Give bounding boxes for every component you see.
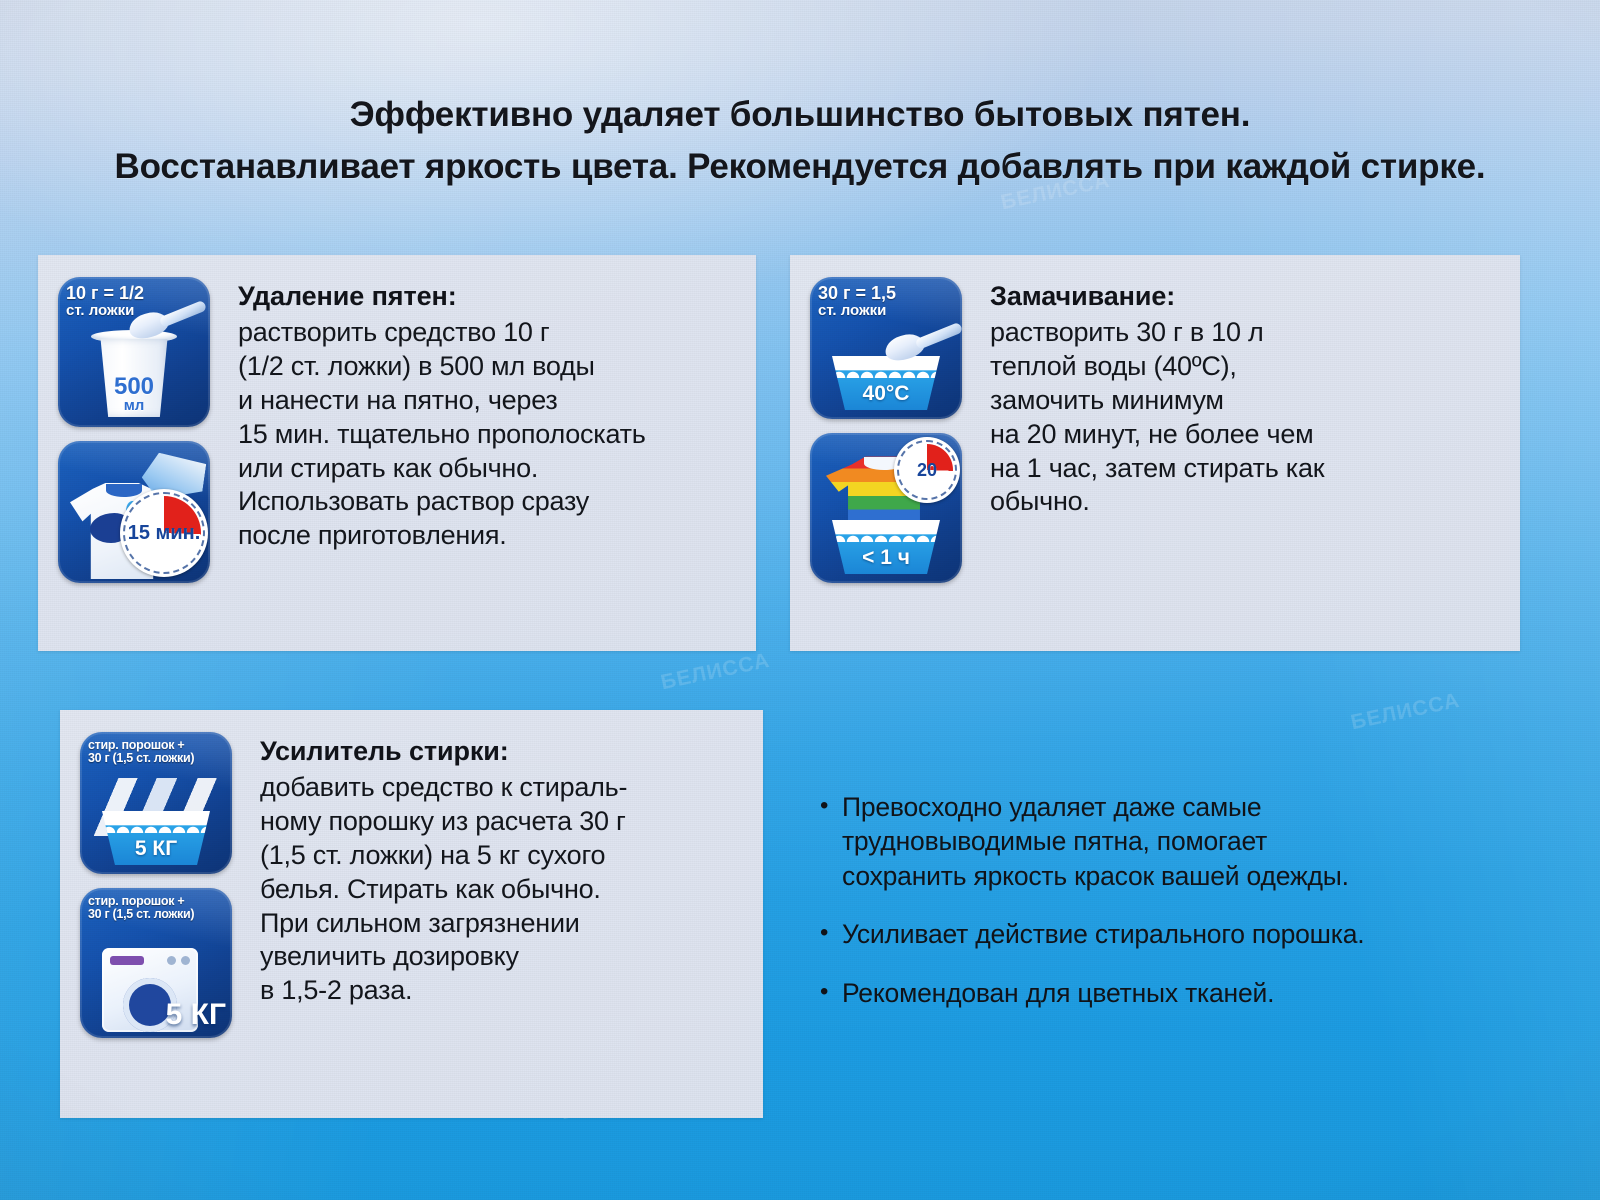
panel-title: Замачивание: xyxy=(990,281,1506,312)
rainbow-shirt-basin-icon: 20 < 1 ч xyxy=(810,433,962,583)
cup-volume-label: 500 мл xyxy=(58,376,210,413)
body-line: ному порошку из расчета 30 г xyxy=(260,805,749,839)
dose-basin-caption-line2: ст. ложки xyxy=(818,303,956,319)
bullet-text: Усиливает действие стирального порошка. xyxy=(842,917,1520,951)
timer-icon: 15 мин. xyxy=(120,489,208,577)
text-column: Замачивание: растворить 30 г в 10 л тепл… xyxy=(982,255,1520,651)
icon-column: стир. порошок + 30 г (1,5 ст. ложки) 5 К… xyxy=(60,710,252,1118)
body-line: после приготовления. xyxy=(238,519,742,553)
bullet-line: Превосходно удаляет даже самые xyxy=(842,790,1520,824)
panel-wash-booster: стир. порошок + 30 г (1,5 ст. ложки) 5 К… xyxy=(60,710,763,1118)
body-line: обычно. xyxy=(990,485,1506,519)
cup-volume-unit: мл xyxy=(58,399,210,413)
dose-cup-icon: 10 г = 1/2 ст. ложки 500 мл xyxy=(58,277,210,427)
dose-basin-caption-line1: 30 г = 1,5 xyxy=(818,284,956,303)
body-line: белья. Стирать как обычно. xyxy=(260,873,749,907)
body-line: При сильном загрязнении xyxy=(260,907,749,941)
washing-machine-5kg-icon: стир. порошок + 30 г (1,5 ст. ложки) 5 К… xyxy=(80,888,232,1038)
body-line: на 20 минут, не более чем xyxy=(990,418,1506,452)
bullet-text: Рекомендован для цветных тканей. xyxy=(842,976,1520,1010)
machine-caption-line2: 30 г (1,5 ст. ложки) xyxy=(88,908,226,921)
powder-caption-line2: 30 г (1,5 ст. ложки) xyxy=(88,752,226,765)
basin-icon: < 1 ч xyxy=(832,520,940,574)
body-line: добавить средство к стираль- xyxy=(260,771,749,805)
body-line: увеличить дозировку xyxy=(260,940,749,974)
body-line: растворить 30 г в 10 л xyxy=(990,316,1506,350)
list-item: • Превосходно удаляет даже самые труднов… xyxy=(820,790,1520,893)
body-line: растворить средство 10 г xyxy=(238,316,742,350)
body-line: 15 мин. тщательно прополоскать xyxy=(238,418,742,452)
body-line: замочить минимум xyxy=(990,384,1506,418)
basin-temperature-label: 40°C xyxy=(832,382,940,406)
panel-body: растворить 30 г в 10 л теплой воды (40ºC… xyxy=(990,316,1506,519)
basin-weight-label: 5 КГ xyxy=(102,837,210,861)
bullet-line: трудновыводимые пятна, помогает xyxy=(842,824,1520,858)
panel-title: Усилитель стирки: xyxy=(260,736,749,767)
panel-stain-removal: 10 г = 1/2 ст. ложки 500 мл xyxy=(38,255,756,651)
icon-column: 10 г = 1/2 ст. ложки 500 мл xyxy=(38,255,230,651)
text-column: Усилитель стирки: добавить средство к ст… xyxy=(252,710,763,1118)
basin-duration-label: < 1 ч xyxy=(832,546,940,570)
body-line: Использовать раствор сразу xyxy=(238,485,742,519)
bullet-line: Рекомендован для цветных тканей. xyxy=(842,976,1520,1010)
bullet-text: Превосходно удаляет даже самые трудновыв… xyxy=(842,790,1520,893)
bullet-marker: • xyxy=(820,790,842,893)
basin-icon: 40°C xyxy=(832,356,940,410)
machine-caption: стир. порошок + 30 г (1,5 ст. ложки) xyxy=(88,895,226,921)
body-line: или стирать как обычно. xyxy=(238,452,742,486)
cup-volume-value: 500 xyxy=(58,376,210,399)
powder-basin-5kg-icon: стир. порошок + 30 г (1,5 ст. ложки) 5 К… xyxy=(80,732,232,874)
body-line: и нанести на пятно, через xyxy=(238,384,742,418)
machine-weight-label: 5 КГ xyxy=(166,998,226,1032)
benefits-list: • Превосходно удаляет даже самые труднов… xyxy=(820,790,1520,1010)
timer-label: 15 мин. xyxy=(120,489,208,577)
panel-title: Удаление пятен: xyxy=(238,281,742,312)
timer-icon: 20 xyxy=(894,437,960,503)
powder-basin-caption: стир. порошок + 30 г (1,5 ст. ложки) xyxy=(88,739,226,765)
bullet-line: сохранить яркость красок вашей одежды. xyxy=(842,859,1520,893)
list-item: • Рекомендован для цветных тканей. xyxy=(820,976,1520,1010)
page-title: Эффективно удаляет большинство бытовых п… xyxy=(0,92,1600,189)
panel-body: растворить средство 10 г (1/2 ст. ложки)… xyxy=(238,316,742,553)
shirt-stain-timer-icon: 15 мин. xyxy=(58,441,210,583)
icon-column: 30 г = 1,5 ст. ложки 40°C 20 xyxy=(790,255,982,651)
dose-basin-caption: 30 г = 1,5 ст. ложки xyxy=(818,284,956,319)
basin-icon: 5 КГ xyxy=(102,811,210,865)
list-item: • Усиливает действие стирального порошка… xyxy=(820,917,1520,951)
body-line: на 1 час, затем стирать как xyxy=(990,452,1506,486)
text-column: Удаление пятен: растворить средство 10 г… xyxy=(230,255,756,651)
timer-label: 20 xyxy=(894,437,960,503)
headline-line-2: Восстанавливает яркость цвета. Рекоменду… xyxy=(0,144,1600,190)
bullet-line: Усиливает действие стирального порошка. xyxy=(842,917,1520,951)
dose-cup-caption-line1: 10 г = 1/2 xyxy=(66,284,204,303)
headline-line-1: Эффективно удаляет большинство бытовых п… xyxy=(0,92,1600,138)
body-line: в 1,5-2 раза. xyxy=(260,974,749,1008)
panel-soaking: 30 г = 1,5 ст. ложки 40°C 20 xyxy=(790,255,1520,651)
bullet-marker: • xyxy=(820,917,842,951)
body-line: (1/2 ст. ложки) в 500 мл воды xyxy=(238,350,742,384)
panel-body: добавить средство к стираль- ному порошк… xyxy=(260,771,749,1008)
bullet-marker: • xyxy=(820,976,842,1010)
body-line: (1,5 ст. ложки) на 5 кг сухого xyxy=(260,839,749,873)
dose-basin-40c-icon: 30 г = 1,5 ст. ложки 40°C xyxy=(810,277,962,419)
body-line: теплой воды (40ºC), xyxy=(990,350,1506,384)
